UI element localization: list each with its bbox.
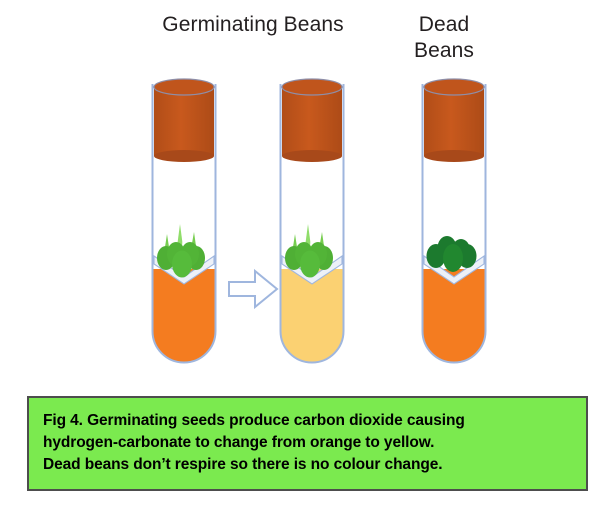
group-label-dead-beans: Dead Beans [388,12,500,63]
group-label-dead-beans-line-1: Dead [388,12,500,38]
rubber-bung [424,79,484,162]
respiration-diagram: Germinating Beans Dead Beans [0,0,613,530]
group-label-dead-beans-line-2: Beans [388,38,500,64]
group-label-germinating-beans: Germinating Beans [128,12,378,38]
change-arrow [227,266,279,312]
test-tube-dead-beans [419,78,489,368]
change-arrow-icon [227,266,279,312]
rubber-bung [282,79,342,162]
test-tube-germinating-after [277,78,347,368]
test-tube-svg [149,78,219,368]
caption-line-1: Fig 4. Germinating seeds produce carbon … [43,410,572,432]
caption-line-2: hydrogen-carbonate to change from orange… [43,432,572,454]
dead-beans [427,236,477,272]
figure-caption: Fig 4. Germinating seeds produce carbon … [27,396,588,491]
test-tube-germinating-before [149,78,219,368]
caption-line-3: Dead beans don’t respire so there is no … [43,454,572,476]
rubber-bung [154,79,214,162]
test-tube-svg [419,78,489,368]
test-tube-svg [277,78,347,368]
